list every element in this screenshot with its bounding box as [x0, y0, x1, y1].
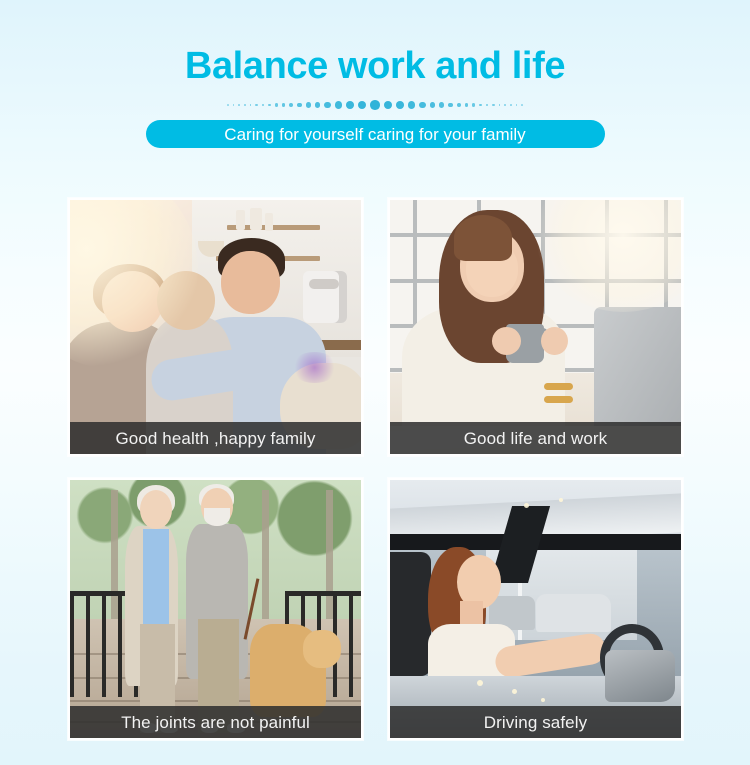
divider-dot — [244, 104, 246, 106]
divider-dot — [472, 103, 475, 106]
divider-dot — [324, 102, 330, 108]
feature-card-grid: Good health ,happy family — [68, 198, 683, 740]
promo-banner-page: Balance work and life Caring for yoursel… — [0, 0, 750, 765]
card-caption-text: Good life and work — [464, 430, 608, 447]
divider-dot — [448, 103, 453, 108]
divider-dot — [268, 104, 271, 107]
divider-dot — [275, 103, 278, 106]
card-caption-bar: Good life and work — [390, 422, 681, 454]
divider-dot — [306, 102, 311, 107]
family-hug-kitchen-photo — [70, 200, 361, 454]
divider-dot — [510, 104, 512, 106]
dotted-divider — [185, 99, 565, 111]
card-caption-text: Driving safely — [484, 714, 587, 731]
divider-dot — [238, 104, 240, 106]
feature-card[interactable]: Good health ,happy family — [68, 198, 363, 456]
feature-card[interactable]: The joints are not painful — [68, 478, 363, 740]
divider-dot — [250, 104, 252, 106]
feature-card[interactable]: Driving safely — [388, 478, 683, 740]
divider-dot — [315, 102, 321, 108]
divider-dot — [289, 103, 293, 107]
divider-dot — [297, 103, 302, 108]
divider-dot — [262, 104, 264, 106]
card-caption-bar: Driving safely — [390, 706, 681, 738]
divider-dot — [439, 102, 444, 107]
divider-dot — [430, 102, 436, 108]
woman-coffee-laptop-photo — [390, 200, 681, 454]
divider-dot — [419, 102, 425, 108]
feature-card[interactable]: Good life and work — [388, 198, 683, 456]
page-title: Balance work and life — [185, 47, 565, 85]
divider-dot — [521, 104, 523, 106]
divider-dot — [499, 104, 501, 106]
divider-dot — [408, 101, 415, 108]
divider-dot — [370, 100, 380, 110]
card-caption-bar: Good health ,happy family — [70, 422, 361, 454]
divider-dot — [233, 104, 235, 106]
header-section: Balance work and life Caring for yoursel… — [0, 0, 750, 175]
divider-dot — [335, 101, 342, 108]
divider-dot — [492, 104, 494, 106]
divider-dot — [516, 104, 518, 106]
card-caption-text: The joints are not painful — [121, 714, 310, 731]
senior-couple-dog-bridge-photo — [70, 480, 361, 738]
woman-driving-car-photo — [390, 480, 681, 738]
divider-dot — [358, 101, 367, 110]
divider-dot — [486, 104, 488, 106]
divider-dot — [479, 104, 482, 107]
divider-dot — [396, 101, 404, 109]
divider-dot — [282, 103, 286, 107]
divider-dot — [227, 104, 229, 106]
subtitle-pill-banner: Caring for yourself caring for your fami… — [146, 120, 605, 148]
divider-dot — [384, 101, 393, 110]
divider-dot — [346, 101, 354, 109]
divider-dot — [457, 103, 461, 107]
divider-dot — [255, 104, 257, 106]
divider-dot — [465, 103, 469, 107]
card-caption-bar: The joints are not painful — [70, 706, 361, 738]
card-caption-text: Good health ,happy family — [115, 430, 315, 447]
subtitle-text: Caring for yourself caring for your fami… — [224, 126, 525, 143]
divider-dot — [504, 104, 506, 106]
